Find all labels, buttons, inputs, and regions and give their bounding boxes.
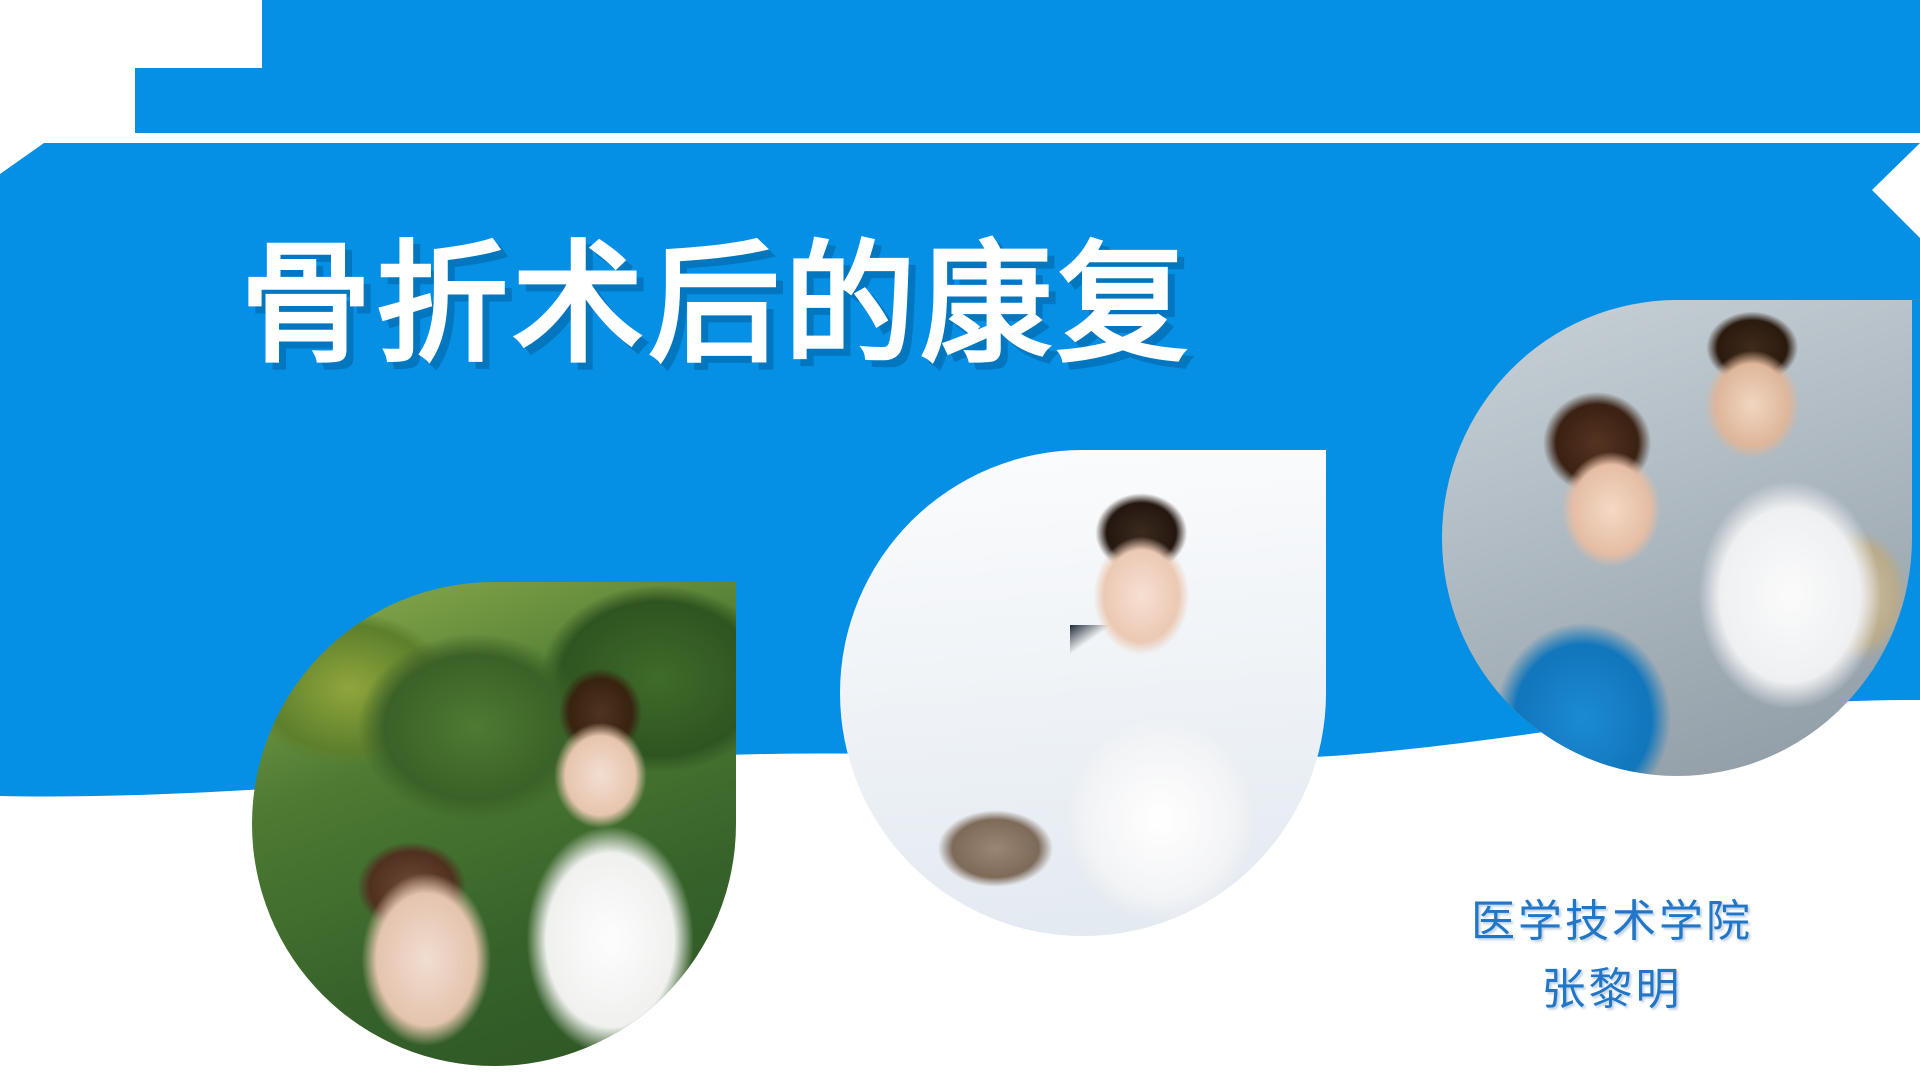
photo-doctor-tablet — [840, 450, 1326, 936]
credits-block: 医学技术学院 张黎明 — [1352, 888, 1872, 1024]
photo-elderly-care-image — [252, 582, 736, 1066]
title-slide: 骨折术后的康复 医学技术学院 张黎明 — [0, 0, 1920, 1080]
title-block: 骨折术后的康复 — [240, 232, 1240, 380]
page-title: 骨折术后的康复 — [240, 232, 1240, 380]
photo-elderly-care — [252, 582, 736, 1066]
credit-organization: 医学技术学院 — [1352, 888, 1872, 956]
top-step-shape — [135, 0, 1920, 133]
photo-medical-team — [1442, 300, 1912, 776]
photo-medical-team-image — [1442, 300, 1912, 776]
credit-presenter: 张黎明 — [1352, 956, 1872, 1024]
photo-doctor-tablet-image — [840, 450, 1326, 936]
